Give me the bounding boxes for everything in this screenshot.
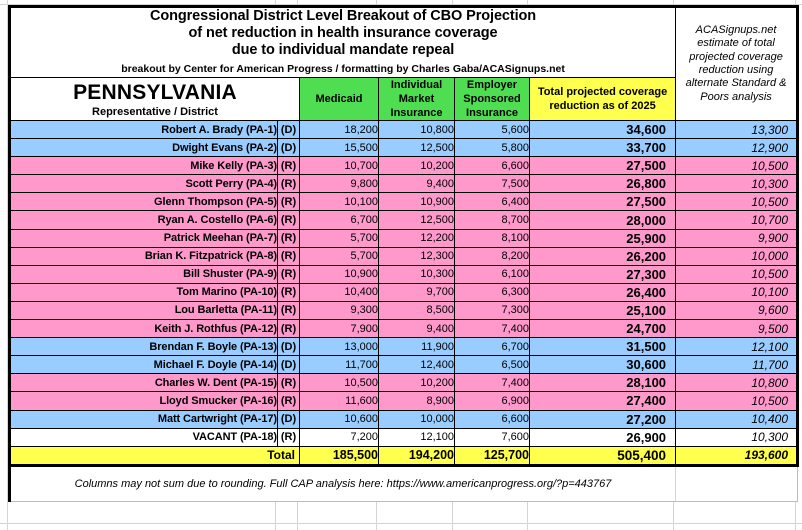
table-row: Keith J. Rothfus (PA-12)(R)7,9009,4007,4… bbox=[10, 320, 798, 338]
row-party: (R) bbox=[278, 265, 300, 283]
row-alt-estimate: 10,800 bbox=[676, 374, 798, 392]
row-medicaid: 10,100 bbox=[300, 193, 379, 211]
table-row: Bill Shuster (PA-9)(R)10,90010,3006,1002… bbox=[10, 265, 798, 283]
row-employer: 7,400 bbox=[455, 374, 530, 392]
totals-medicaid: 185,500 bbox=[300, 446, 379, 465]
row-total: 30,600 bbox=[530, 356, 676, 374]
table-row: Scott Perry (PA-4)(R)9,8009,4007,50026,8… bbox=[10, 175, 798, 193]
table-row: Robert A. Brady (PA-1)(D)18,20010,8005,6… bbox=[10, 121, 798, 139]
row-employer: 6,900 bbox=[455, 392, 530, 410]
row-employer: 6,700 bbox=[455, 338, 530, 356]
totals-row: Total 185,500 194,200 125,700 505,400 19… bbox=[10, 446, 798, 465]
row-alt-estimate: 9,900 bbox=[676, 229, 798, 247]
table-row: Lloyd Smucker (PA-16)(R)11,6008,9006,900… bbox=[10, 392, 798, 410]
table-row: Charles W. Dent (PA-15)(R)10,50010,2007,… bbox=[10, 374, 798, 392]
row-party: (D) bbox=[278, 121, 300, 139]
row-party: (D) bbox=[278, 338, 300, 356]
row-party: (D) bbox=[278, 356, 300, 374]
table-row: Ryan A. Costello (PA-6)(R)6,70012,5008,7… bbox=[10, 211, 798, 229]
row-employer: 7,300 bbox=[455, 301, 530, 319]
row-individual: 12,200 bbox=[379, 229, 455, 247]
row-employer: 6,300 bbox=[455, 283, 530, 301]
totals-label: Total bbox=[10, 446, 300, 465]
row-party: (R) bbox=[278, 392, 300, 410]
row-alt-estimate: 11,700 bbox=[676, 356, 798, 374]
row-individual: 9,400 bbox=[379, 175, 455, 193]
row-medicaid: 6,700 bbox=[300, 211, 379, 229]
row-employer: 7,500 bbox=[455, 175, 530, 193]
row-medicaid: 5,700 bbox=[300, 247, 379, 265]
row-party: (R) bbox=[278, 283, 300, 301]
row-alt-estimate: 10,300 bbox=[676, 175, 798, 193]
row-individual: 12,400 bbox=[379, 356, 455, 374]
table-row: Brian K. Fitzpatrick (PA-8)(R)5,70012,30… bbox=[10, 247, 798, 265]
row-party: (D) bbox=[278, 410, 300, 428]
row-representative: Keith J. Rothfus (PA-12) bbox=[10, 320, 278, 338]
row-individual: 12,100 bbox=[379, 428, 455, 446]
row-party: (R) bbox=[278, 428, 300, 446]
row-medicaid: 18,200 bbox=[300, 121, 379, 139]
footnote-blank-cell bbox=[676, 465, 798, 501]
state-header-cell: PENNSYLVANIA Representative / District bbox=[10, 78, 300, 121]
row-medicaid: 7,200 bbox=[300, 428, 379, 446]
row-total: 28,100 bbox=[530, 374, 676, 392]
table-row: Dwight Evans (PA-2)(D)15,50012,5005,8003… bbox=[10, 139, 798, 157]
state-name: PENNSYLVANIA bbox=[11, 80, 299, 105]
row-representative: Charles W. Dent (PA-15) bbox=[10, 374, 278, 392]
totals-individual: 194,200 bbox=[379, 446, 455, 465]
table-row: Mike Kelly (PA-3)(R)10,70010,2006,60027,… bbox=[10, 157, 798, 175]
row-party: (R) bbox=[278, 193, 300, 211]
row-individual: 10,800 bbox=[379, 121, 455, 139]
row-representative: Dwight Evans (PA-2) bbox=[10, 139, 278, 157]
column-header-total-projected: Total projected coverage reduction as of… bbox=[530, 78, 676, 121]
table-row: Michael F. Doyle (PA-14)(D)11,70012,4006… bbox=[10, 356, 798, 374]
row-alt-estimate: 13,300 bbox=[676, 121, 798, 139]
row-total: 24,700 bbox=[530, 320, 676, 338]
table-row: Brendan F. Boyle (PA-13)(D)13,00011,9006… bbox=[10, 338, 798, 356]
row-alt-estimate: 9,500 bbox=[676, 320, 798, 338]
row-total: 26,400 bbox=[530, 283, 676, 301]
totals-total: 505,400 bbox=[530, 446, 676, 465]
row-medicaid: 10,500 bbox=[300, 374, 379, 392]
row-representative: Lloyd Smucker (PA-16) bbox=[10, 392, 278, 410]
row-individual: 10,300 bbox=[379, 265, 455, 283]
row-party: (R) bbox=[278, 374, 300, 392]
row-individual: 9,700 bbox=[379, 283, 455, 301]
row-total: 26,200 bbox=[530, 247, 676, 265]
row-representative: Bill Shuster (PA-9) bbox=[10, 265, 278, 283]
row-total: 27,400 bbox=[530, 392, 676, 410]
row-alt-estimate: 10,300 bbox=[676, 428, 798, 446]
footnote-text: Columns may not sum due to rounding. Ful… bbox=[10, 465, 676, 501]
row-employer: 8,200 bbox=[455, 247, 530, 265]
column-header-employer-sponsored: Employer Sponsored Insurance bbox=[455, 78, 530, 121]
row-party: (R) bbox=[278, 320, 300, 338]
title-line-3: due to individual mandate repeal bbox=[11, 42, 675, 59]
row-representative: VACANT (PA-18) bbox=[10, 428, 278, 446]
row-employer: 6,400 bbox=[455, 193, 530, 211]
row-representative: Patrick Meehan (PA-7) bbox=[10, 229, 278, 247]
title-credit: breakout by Center for American Progress… bbox=[11, 59, 675, 77]
row-medicaid: 10,400 bbox=[300, 283, 379, 301]
row-alt-estimate: 9,600 bbox=[676, 301, 798, 319]
row-employer: 6,600 bbox=[455, 157, 530, 175]
spreadsheet-canvas: Congressional District Level Breakout of… bbox=[0, 0, 802, 530]
row-total: 31,500 bbox=[530, 338, 676, 356]
row-individual: 8,900 bbox=[379, 392, 455, 410]
row-alt-estimate: 10,700 bbox=[676, 211, 798, 229]
row-party: (R) bbox=[278, 229, 300, 247]
row-medicaid: 9,300 bbox=[300, 301, 379, 319]
row-individual: 9,400 bbox=[379, 320, 455, 338]
row-employer: 7,600 bbox=[455, 428, 530, 446]
row-medicaid: 11,600 bbox=[300, 392, 379, 410]
table-row: Tom Marino (PA-10)(R)10,4009,7006,30026,… bbox=[10, 283, 798, 301]
row-representative: Robert A. Brady (PA-1) bbox=[10, 121, 278, 139]
row-total: 34,600 bbox=[530, 121, 676, 139]
row-medicaid: 7,900 bbox=[300, 320, 379, 338]
title-line-2: of net reduction in health insurance cov… bbox=[11, 25, 675, 42]
row-representative: Mike Kelly (PA-3) bbox=[10, 157, 278, 175]
row-medicaid: 13,000 bbox=[300, 338, 379, 356]
state-subtitle: Representative / District bbox=[11, 105, 299, 119]
row-alt-estimate: 12,900 bbox=[676, 139, 798, 157]
row-representative: Lou Barletta (PA-11) bbox=[10, 301, 278, 319]
table-row: Matt Cartwright (PA-17)(D)10,60010,0006,… bbox=[10, 410, 798, 428]
row-total: 26,900 bbox=[530, 428, 676, 446]
row-total: 28,000 bbox=[530, 211, 676, 229]
row-alt-estimate: 10,500 bbox=[676, 193, 798, 211]
row-total: 25,100 bbox=[530, 301, 676, 319]
footnote-row: Columns may not sum due to rounding. Ful… bbox=[10, 465, 798, 501]
cbo-projection-table: Congressional District Level Breakout of… bbox=[8, 5, 799, 502]
row-individual: 12,500 bbox=[379, 139, 455, 157]
row-individual: 8,500 bbox=[379, 301, 455, 319]
row-employer: 8,100 bbox=[455, 229, 530, 247]
row-alt-estimate: 10,100 bbox=[676, 283, 798, 301]
row-medicaid: 15,500 bbox=[300, 139, 379, 157]
row-alt-estimate: 10,500 bbox=[676, 392, 798, 410]
column-header-individual-market: Individual Market Insurance bbox=[379, 78, 455, 121]
row-representative: Scott Perry (PA-4) bbox=[10, 175, 278, 193]
row-individual: 10,200 bbox=[379, 157, 455, 175]
row-party: (R) bbox=[278, 211, 300, 229]
row-medicaid: 9,800 bbox=[300, 175, 379, 193]
row-representative: Ryan A. Costello (PA-6) bbox=[10, 211, 278, 229]
row-representative: Michael F. Doyle (PA-14) bbox=[10, 356, 278, 374]
row-individual: 10,000 bbox=[379, 410, 455, 428]
row-employer: 7,400 bbox=[455, 320, 530, 338]
row-total: 26,800 bbox=[530, 175, 676, 193]
row-party: (R) bbox=[278, 157, 300, 175]
row-total: 27,500 bbox=[530, 157, 676, 175]
row-employer: 5,600 bbox=[455, 121, 530, 139]
row-party: (R) bbox=[278, 175, 300, 193]
row-representative: Tom Marino (PA-10) bbox=[10, 283, 278, 301]
row-party: (R) bbox=[278, 301, 300, 319]
row-employer: 6,100 bbox=[455, 265, 530, 283]
totals-employer: 125,700 bbox=[455, 446, 530, 465]
row-employer: 8,700 bbox=[455, 211, 530, 229]
row-representative: Matt Cartwright (PA-17) bbox=[10, 410, 278, 428]
column-header-medicaid: Medicaid bbox=[300, 78, 379, 121]
row-total: 27,500 bbox=[530, 193, 676, 211]
row-individual: 11,900 bbox=[379, 338, 455, 356]
row-medicaid: 5,700 bbox=[300, 229, 379, 247]
table-row: Lou Barletta (PA-11)(R)9,3008,5007,30025… bbox=[10, 301, 798, 319]
row-total: 33,700 bbox=[530, 139, 676, 157]
row-employer: 6,500 bbox=[455, 356, 530, 374]
row-individual: 10,200 bbox=[379, 374, 455, 392]
sheet-gridline bbox=[0, 523, 802, 524]
row-medicaid: 10,600 bbox=[300, 410, 379, 428]
row-individual: 12,500 bbox=[379, 211, 455, 229]
row-individual: 12,300 bbox=[379, 247, 455, 265]
row-individual: 10,900 bbox=[379, 193, 455, 211]
row-alt-estimate: 10,000 bbox=[676, 247, 798, 265]
row-employer: 6,600 bbox=[455, 410, 530, 428]
row-representative: Brian K. Fitzpatrick (PA-8) bbox=[10, 247, 278, 265]
table-row: VACANT (PA-18)(R)7,20012,1007,60026,9001… bbox=[10, 428, 798, 446]
row-representative: Glenn Thompson (PA-5) bbox=[10, 193, 278, 211]
row-medicaid: 11,700 bbox=[300, 356, 379, 374]
row-total: 27,200 bbox=[530, 410, 676, 428]
row-total: 25,900 bbox=[530, 229, 676, 247]
row-alt-estimate: 12,100 bbox=[676, 338, 798, 356]
title-line-1: Congressional District Level Breakout of… bbox=[11, 8, 675, 25]
row-employer: 5,800 bbox=[455, 139, 530, 157]
row-alt-estimate: 10,500 bbox=[676, 157, 798, 175]
row-alt-estimate: 10,400 bbox=[676, 410, 798, 428]
row-representative: Brendan F. Boyle (PA-13) bbox=[10, 338, 278, 356]
row-medicaid: 10,900 bbox=[300, 265, 379, 283]
row-party: (D) bbox=[278, 139, 300, 157]
row-total: 27,300 bbox=[530, 265, 676, 283]
table-row: Patrick Meehan (PA-7)(R)5,70012,2008,100… bbox=[10, 229, 798, 247]
table-row: Glenn Thompson (PA-5)(R)10,10010,9006,40… bbox=[10, 193, 798, 211]
row-medicaid: 10,700 bbox=[300, 157, 379, 175]
title-row: Congressional District Level Breakout of… bbox=[10, 7, 798, 78]
row-party: (R) bbox=[278, 247, 300, 265]
row-alt-estimate: 10,500 bbox=[676, 265, 798, 283]
alt-estimate-column-note: ACASignups.net estimate of total project… bbox=[676, 7, 798, 121]
totals-alt-estimate: 193,600 bbox=[676, 446, 798, 465]
report-title-cell: Congressional District Level Breakout of… bbox=[10, 7, 676, 78]
